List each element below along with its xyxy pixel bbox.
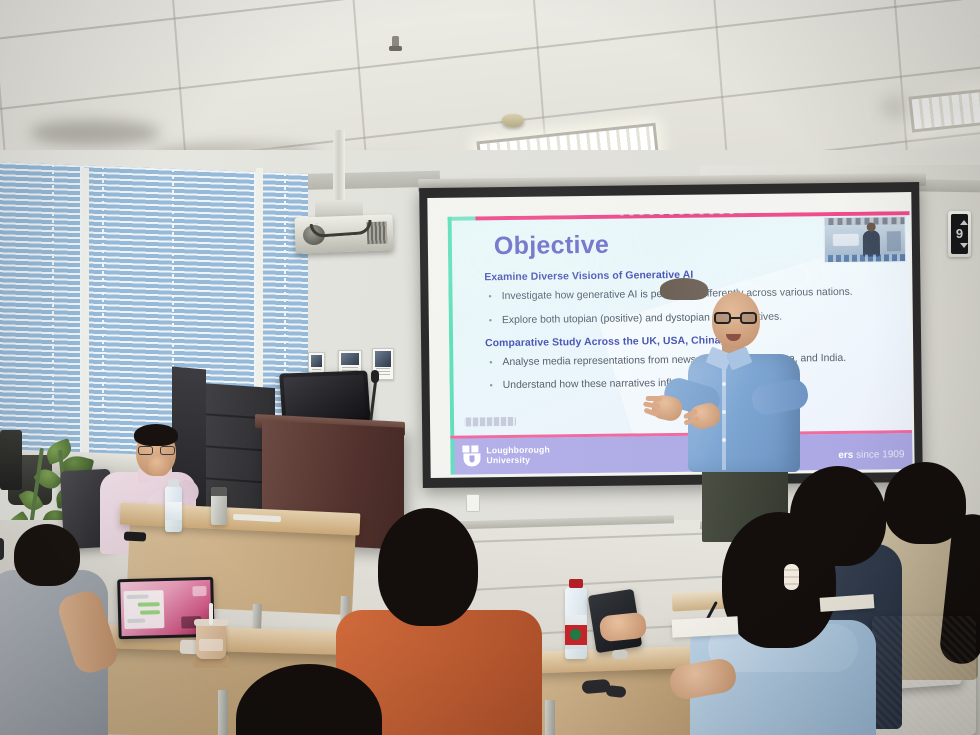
eyeglasses-icon: [714, 312, 758, 324]
shield-crest-icon: [462, 445, 481, 466]
ac-control-panel[interactable]: 9: [948, 211, 971, 257]
shirt-placket: [722, 360, 726, 470]
smartphone: [124, 531, 146, 541]
equipment-column: [0, 430, 22, 490]
desk-leg: [218, 690, 228, 735]
wall-power-outlet: [466, 494, 480, 512]
chat-window[interactable]: [123, 590, 164, 629]
bullet-dot-icon: •: [488, 290, 491, 304]
desk-small-item: [612, 650, 628, 659]
projector-mount-pole: [333, 130, 345, 205]
remote-participant-silhouette: [863, 231, 880, 257]
thermos-flask: [211, 487, 227, 525]
bullet-dot-icon: •: [489, 356, 492, 370]
monitor-screen: [283, 375, 366, 421]
earbuds-case: [605, 685, 626, 698]
window-mullion: [82, 168, 89, 468]
ac-up-arrow-icon[interactable]: [960, 220, 968, 225]
slide-left-accent-bar: [448, 217, 455, 439]
desk-leg: [545, 700, 555, 735]
university-logo: Loughborough University: [462, 444, 550, 466]
sprinkler-head-icon: [392, 36, 399, 50]
bullet-dot-icon: •: [490, 380, 493, 394]
notebook: [672, 616, 739, 637]
attendee-hair: [134, 424, 178, 446]
blind-panel: [0, 162, 80, 465]
slide-title: Objective: [494, 231, 610, 261]
logo-line-2: University: [486, 455, 550, 465]
presentation-control-toolbar[interactable]: [464, 417, 516, 427]
hair-clip: [784, 564, 799, 590]
water-bottle: [165, 486, 182, 532]
eyeglasses-icon: [138, 446, 176, 455]
milk-tea-cup: [196, 623, 226, 659]
lecture-room-photo: 9 Objective Examine Dive: [0, 0, 980, 735]
student-head: [722, 512, 836, 648]
microphone-head-icon: [371, 370, 379, 383]
thumbnail-name-label: [825, 254, 905, 262]
remote-participant-thumbnail[interactable]: [824, 216, 907, 263]
attendee-hand-on-chin: [148, 456, 170, 476]
thumbnail-titlebar: [825, 217, 905, 225]
presenter-hair: [660, 278, 708, 300]
student-head: [14, 524, 80, 586]
hair-tie: [0, 538, 4, 560]
bullet-dot-icon: •: [489, 314, 492, 328]
ac-down-arrow-icon[interactable]: [960, 243, 968, 248]
classroom-chair: [872, 616, 976, 735]
water-bottle: [565, 587, 587, 659]
student-head: [378, 508, 478, 626]
thermos-lid: [211, 487, 227, 496]
drinking-straw: [209, 603, 213, 625]
footer-left-accent: [450, 439, 454, 475]
smoke-detector-icon: [502, 114, 524, 127]
